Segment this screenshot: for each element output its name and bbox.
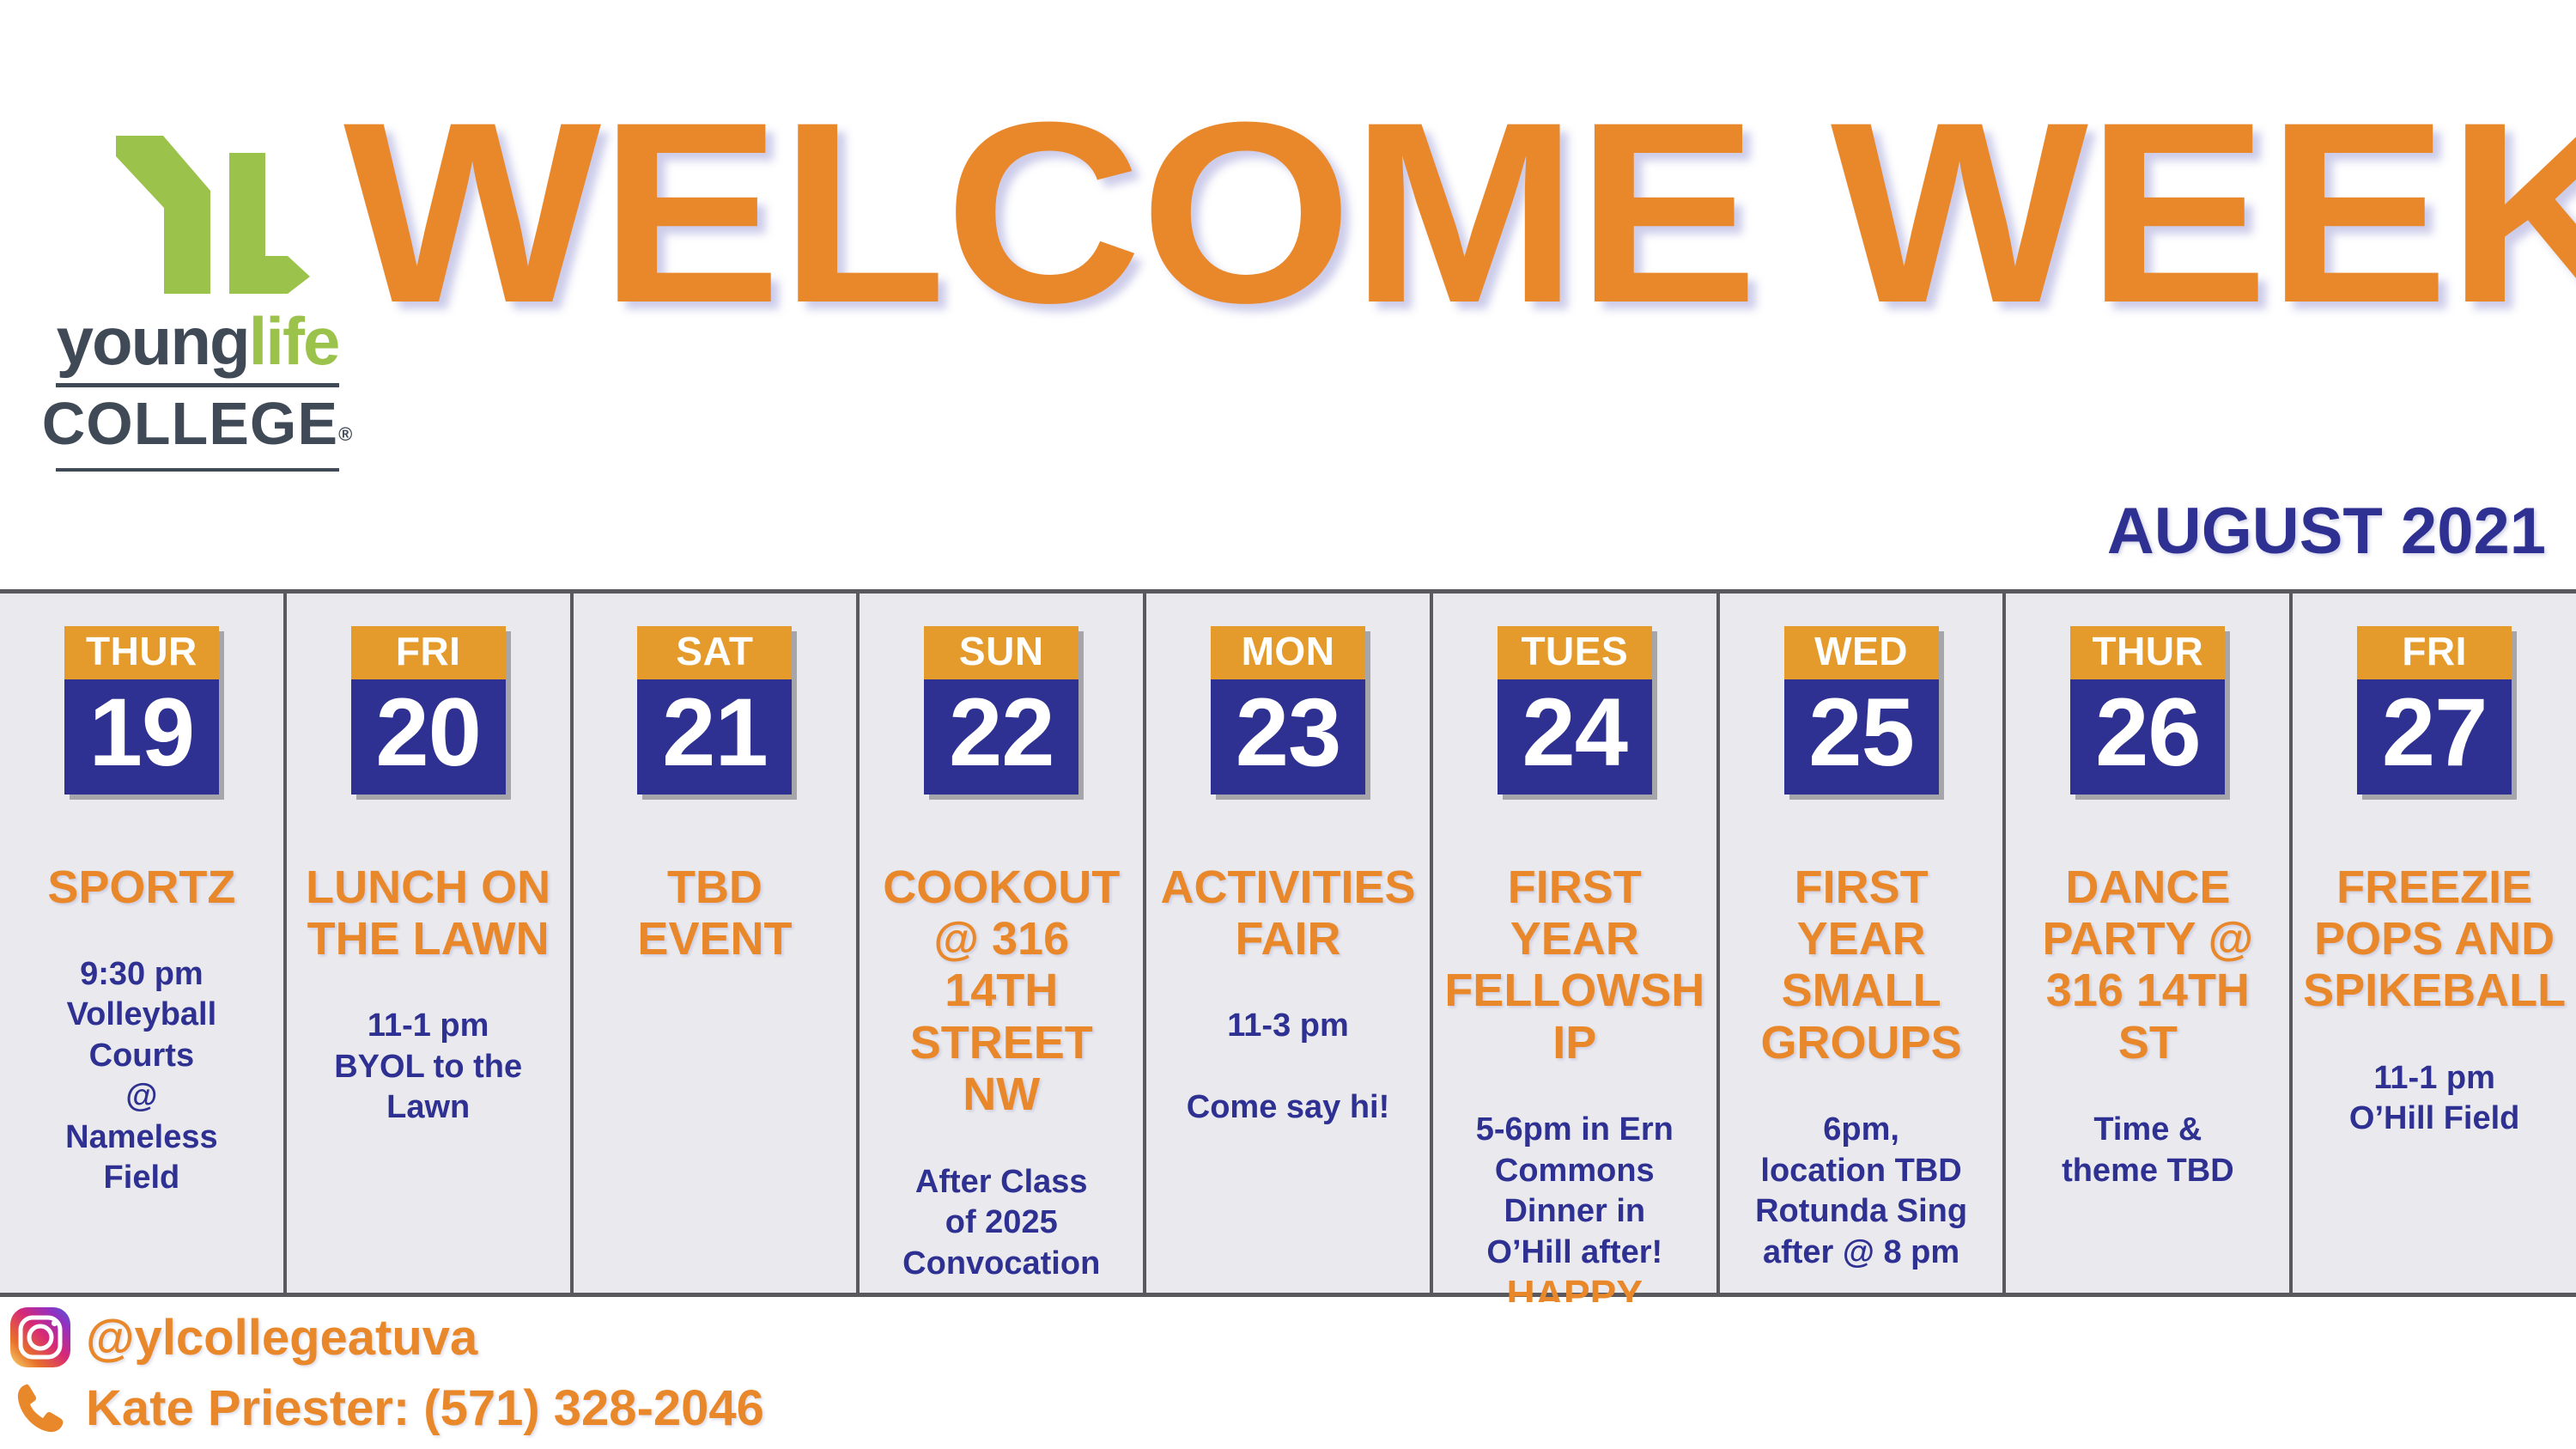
day-number-label: 25 bbox=[1784, 679, 1939, 795]
logo-word-young: young bbox=[57, 303, 249, 379]
date-badge-24: TUES24 bbox=[1498, 626, 1652, 795]
logo-college-word: COLLEGE® bbox=[34, 387, 361, 458]
day-number-label: 19 bbox=[64, 679, 219, 795]
day-of-week-label: FRI bbox=[2357, 626, 2512, 679]
day-column-25: WED25FIRST YEARSMALLGROUPS6pm,location T… bbox=[1720, 594, 2007, 1293]
date-badge-22: SUN22 bbox=[924, 626, 1078, 795]
event-title: TBDEVENT bbox=[582, 861, 848, 965]
instagram-contact-row[interactable]: @ylcollegeatuva bbox=[0, 1302, 2576, 1373]
date-badge-25: WED25 bbox=[1784, 626, 1939, 795]
day-column-26: THUR26DANCEPARTY @316 14THSTTime &theme … bbox=[2006, 594, 2293, 1293]
day-of-week-label: THUR bbox=[2070, 626, 2225, 679]
date-badge-21: SAT21 bbox=[637, 626, 792, 795]
month-year-label: AUGUST 2021 bbox=[2107, 494, 2546, 569]
date-badge-27: FRI27 bbox=[2357, 626, 2512, 795]
day-number-label: 26 bbox=[2070, 679, 2225, 795]
day-of-week-label: FRI bbox=[351, 626, 506, 679]
logo-college-text: COLLEGE bbox=[42, 390, 338, 457]
event-details: After Classof 2025Convocation bbox=[868, 1162, 1134, 1285]
event-details: 11-3 pmCome say hi! bbox=[1155, 1006, 1421, 1129]
date-badge-23: MON23 bbox=[1211, 626, 1365, 795]
day-column-20: FRI20LUNCH ONTHE LAWN11-1 pmBYOL to theL… bbox=[287, 594, 574, 1293]
event-details: 11-1 pmO’Hill Field bbox=[2301, 1058, 2567, 1140]
event-title: ACTIVITIESFAIR bbox=[1155, 861, 1421, 965]
younglife-college-logo: younglife COLLEGE® bbox=[34, 129, 361, 472]
page-title: WELCOME WEEK bbox=[343, 90, 2576, 335]
day-of-week-label: THUR bbox=[64, 626, 219, 679]
date-badge-19: THUR19 bbox=[64, 626, 219, 795]
date-badge-20: FRI20 bbox=[351, 626, 506, 795]
day-column-27: FRI27FREEZIEPOPS ANDSPIKEBALL11-1 pmO’Hi… bbox=[2293, 594, 2576, 1293]
day-of-week-label: SUN bbox=[924, 626, 1078, 679]
younglife-yl-mark-icon bbox=[82, 129, 313, 301]
day-number-label: 24 bbox=[1498, 679, 1652, 795]
day-of-week-label: TUES bbox=[1498, 626, 1652, 679]
event-title: DANCEPARTY @316 14THST bbox=[2014, 861, 2281, 1069]
day-column-19: THUR19SPORTZ9:30 pmVolleyballCourts@Name… bbox=[0, 594, 287, 1293]
day-number-label: 27 bbox=[2357, 679, 2512, 795]
event-title: SPORTZ bbox=[9, 861, 275, 913]
day-number-label: 21 bbox=[637, 679, 792, 795]
logo-word-life: life bbox=[249, 303, 339, 379]
day-of-week-label: WED bbox=[1784, 626, 1939, 679]
day-of-week-label: SAT bbox=[637, 626, 792, 679]
event-details: Time &theme TBD bbox=[2014, 1110, 2281, 1191]
day-of-week-label: MON bbox=[1211, 626, 1365, 679]
date-badge-26: THUR26 bbox=[2070, 626, 2225, 795]
event-title: COOKOUT@ 31614THSTREET NW bbox=[868, 861, 1134, 1121]
day-number-label: 20 bbox=[351, 679, 506, 795]
day-number-label: 23 bbox=[1211, 679, 1365, 795]
phone-icon bbox=[7, 1374, 74, 1441]
event-title: FREEZIEPOPS ANDSPIKEBALL bbox=[2301, 861, 2567, 1017]
day-column-21: SAT21TBDEVENT bbox=[574, 594, 860, 1293]
logo-rule-bottom bbox=[56, 468, 339, 472]
event-details: 9:30 pmVolleyballCourts@NamelessField bbox=[9, 954, 275, 1199]
instagram-handle[interactable]: @ylcollegeatuva bbox=[86, 1309, 477, 1367]
day-column-24: TUES24FIRST YEARFELLOWSHIP5-6pm in ErnCo… bbox=[1433, 594, 1720, 1293]
event-details: 5-6pm in ErnCommonsDinner inO’Hill after… bbox=[1442, 1110, 1708, 1273]
page-header: younglife COLLEGE® WELCOME WEEK AUGUST 2… bbox=[0, 0, 2576, 584]
day-column-23: MON23ACTIVITIESFAIR11-3 pmCome say hi! bbox=[1146, 594, 1433, 1293]
event-details: 11-1 pmBYOL to theLawn bbox=[295, 1006, 562, 1129]
page-footer: @ylcollegeatuva Kate Priester: (571) 328… bbox=[0, 1302, 2576, 1449]
day-number-label: 22 bbox=[924, 679, 1078, 795]
event-title: FIRST YEARFELLOWSHIP bbox=[1442, 861, 1708, 1069]
phone-contact[interactable]: Kate Priester: (571) 328-2046 bbox=[86, 1379, 764, 1437]
event-title: FIRST YEARSMALLGROUPS bbox=[1728, 861, 1995, 1069]
registered-mark-icon: ® bbox=[338, 423, 353, 445]
calendar-grid: THUR19SPORTZ9:30 pmVolleyballCourts@Name… bbox=[0, 589, 2576, 1297]
phone-contact-row[interactable]: Kate Priester: (571) 328-2046 bbox=[0, 1373, 2576, 1443]
logo-wordmark: younglife bbox=[34, 307, 361, 374]
event-title: LUNCH ONTHE LAWN bbox=[295, 861, 562, 965]
instagram-icon bbox=[7, 1304, 74, 1371]
day-column-22: SUN22COOKOUT@ 31614THSTREET NWAfter Clas… bbox=[860, 594, 1146, 1293]
event-details: 6pm,location TBDRotunda Singafter @ 8 pm bbox=[1728, 1110, 1995, 1273]
